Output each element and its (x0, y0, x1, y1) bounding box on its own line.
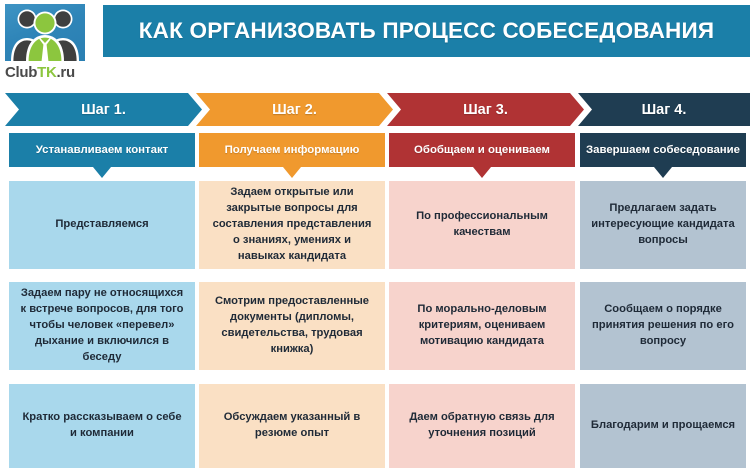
content-cell-text: Задаем пару не относящихся к встрече воп… (19, 286, 185, 366)
content-cell-text: Кратко рассказываем о себе и компании (19, 410, 185, 442)
logo-text: ClubTK.ru (5, 64, 97, 81)
content-cell-text: Смотрим предоставленные документы (дипло… (209, 294, 375, 358)
logo-text-tk: TK (37, 64, 56, 81)
step-pointer-3 (473, 167, 491, 178)
logo-text-club: Club (5, 64, 37, 81)
logo-text-ru: .ru (57, 64, 75, 81)
logo: ClubTK.ru (5, 4, 97, 88)
step-header-label-2: Получаем информацию (225, 144, 360, 156)
step-arrow-label-4: Шаг 4. (642, 102, 687, 118)
content-cell-c3-r3: Даем обратную связь для уточнения позици… (389, 384, 575, 468)
content-cell-c4-r1: Предлагаем задать интересующие кандидата… (580, 181, 746, 269)
header-banner: КАК ОРГАНИЗОВАТЬ ПРОЦЕСС СОБЕСЕДОВАНИЯ (103, 5, 750, 57)
content-cell-text: Благодарим и прощаемся (591, 418, 735, 434)
content-cell-text: Представляемся (55, 217, 148, 233)
content-cell-text: Даем обратную связь для уточнения позици… (399, 410, 565, 442)
page-title: КАК ОРГАНИЗОВАТЬ ПРОЦЕСС СОБЕСЕДОВАНИЯ (139, 18, 715, 44)
steps-row: Шаг 1. Шаг 2. Шаг 3. Шаг 4. (0, 93, 750, 126)
content-cell-c3-r2: По морально-деловым критериям, оцениваем… (389, 282, 575, 370)
content-cell-c2-r2: Смотрим предоставленные документы (дипло… (199, 282, 385, 370)
step-pointer-1 (93, 167, 111, 178)
content-cell-c4-r2: Сообщаем о порядке принятия решения по е… (580, 282, 746, 370)
three-people-icon (5, 4, 85, 61)
content-cell-text: Предлагаем задать интересующие кандидата… (590, 201, 736, 249)
step-header-2: Получаем информацию (199, 133, 385, 167)
content-cell-c1-r1: Представляемся (9, 181, 195, 269)
step-header-4: Завершаем собеседование (580, 133, 746, 167)
content-cell-text: Задаем открытые или закрытые вопросы для… (209, 185, 375, 265)
content-cell-c2-r3: Обсуждаем указанный в резюме опыт (199, 384, 385, 468)
step-header-label-4: Завершаем собеседование (586, 144, 740, 156)
content-cell-text: По профессиональным качествам (399, 209, 565, 241)
step-header-1: Устанавливаем контакт (9, 133, 195, 167)
content-cell-c2-r1: Задаем открытые или закрытые вопросы для… (199, 181, 385, 269)
content-cell-c3-r1: По профессиональным качествам (389, 181, 575, 269)
content-cell-text: По морально-деловым критериям, оцениваем… (399, 302, 565, 350)
step-arrow-1[interactable]: Шаг 1. (5, 93, 202, 126)
step-header-label-3: Обобщаем и оцениваем (414, 144, 550, 156)
content-cell-c1-r2: Задаем пару не относящихся к встрече воп… (9, 282, 195, 370)
step-pointer-2 (283, 167, 301, 178)
step-header-label-1: Устанавливаем контакт (36, 144, 168, 156)
step-arrow-4[interactable]: Шаг 4. (578, 93, 750, 126)
content-cell-text: Обсуждаем указанный в резюме опыт (209, 410, 375, 442)
step-arrow-2[interactable]: Шаг 2. (196, 93, 393, 126)
step-arrow-label-2: Шаг 2. (272, 102, 317, 118)
step-pointer-4 (654, 167, 672, 178)
content-cell-c4-r3: Благодарим и прощаемся (580, 384, 746, 468)
step-arrow-label-3: Шаг 3. (463, 102, 508, 118)
step-arrow-label-1: Шаг 1. (81, 102, 126, 118)
content-cell-text: Сообщаем о порядке принятия решения по е… (590, 302, 736, 350)
infographic-root: ClubTK.ru КАК ОРГАНИЗОВАТЬ ПРОЦЕСС СОБЕС… (0, 0, 750, 472)
step-arrow-3[interactable]: Шаг 3. (387, 93, 584, 126)
content-cell-c1-r3: Кратко рассказываем о себе и компании (9, 384, 195, 468)
step-header-3: Обобщаем и оцениваем (389, 133, 575, 167)
